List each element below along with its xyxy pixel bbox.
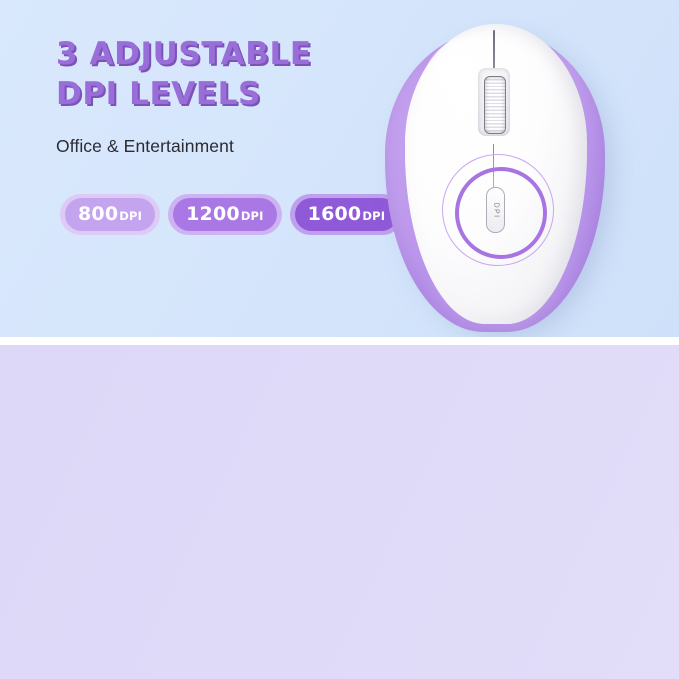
dpi-badge-1600: 1600 DPI bbox=[295, 198, 399, 231]
dpi-badge-1600-value: 1600 bbox=[308, 203, 362, 225]
product-feature-image: 3 ADJUSTABLE DPI LEVELS Office & Enterta… bbox=[0, 0, 679, 679]
top-panel-heading: 3 ADJUSTABLE DPI LEVELS bbox=[56, 34, 386, 114]
top-heading-line-2: DPI LEVELS bbox=[56, 74, 386, 114]
dpi-badge-800-value: 800 bbox=[78, 203, 118, 225]
mouse-top-dpi-button-label: DPI bbox=[492, 202, 499, 218]
dpi-badge-800: 800 DPI bbox=[65, 198, 155, 231]
mouse-top-view-image: DPI bbox=[385, 24, 611, 336]
mouse-top-dpi-button: DPI bbox=[486, 187, 505, 233]
dpi-badge-halo-1200: 1200 DPI bbox=[168, 194, 282, 235]
top-heading-line-1: 3 ADJUSTABLE bbox=[56, 34, 386, 74]
top-panel-text-block: 3 ADJUSTABLE DPI LEVELS Office & Enterta… bbox=[56, 34, 386, 157]
dpi-badge-row: 800 DPI 1200 DPI 1600 DPI bbox=[60, 194, 403, 235]
mouse-top-scroll-wheel bbox=[484, 76, 506, 134]
bottom-panel: NOISELESS AND DURABLE CLICK Keep you foc… bbox=[0, 345, 679, 679]
dpi-badge-1600-unit: DPI bbox=[362, 209, 385, 223]
top-panel: 3 ADJUSTABLE DPI LEVELS Office & Enterta… bbox=[0, 0, 679, 337]
dpi-badge-800-unit: DPI bbox=[119, 209, 142, 223]
dpi-badge-halo-800: 800 DPI bbox=[60, 194, 160, 235]
top-panel-subtitle: Office & Entertainment bbox=[56, 136, 386, 157]
dpi-badge-1200-value: 1200 bbox=[186, 203, 240, 225]
dpi-badge-1200-unit: DPI bbox=[241, 209, 264, 223]
dpi-badge-1200: 1200 DPI bbox=[173, 198, 277, 231]
